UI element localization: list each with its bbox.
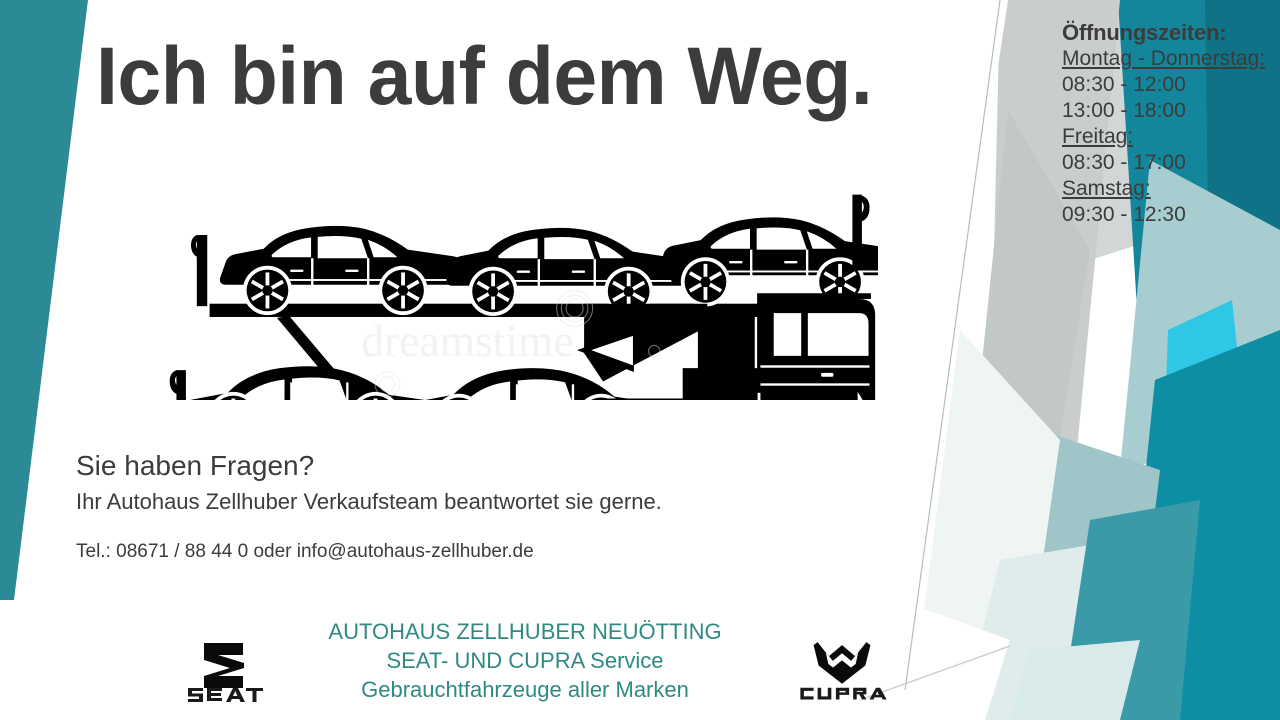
seat-wordmark	[188, 688, 263, 702]
hours-time-saturday: 09:30 - 12:30	[1062, 202, 1280, 228]
bg-teal-soft	[1060, 500, 1200, 720]
footer-line-3: Gebrauchtfahrzeuge aller Marken	[300, 675, 750, 704]
cab-roof-rail	[757, 293, 871, 299]
lower-car-2	[402, 368, 670, 400]
slide-canvas: Ich bin auf dem Weg.	[0, 0, 1280, 720]
bg-offwhite-a	[910, 330, 1060, 720]
bg-teal-mid	[1120, 330, 1280, 720]
questions-heading: Sie haben Fragen?	[76, 450, 314, 482]
opening-hours-block: Öffnungszeiten: Montag - Donnerstag: 08:…	[1062, 20, 1280, 228]
footer-line-2: SEAT- UND CUPRA Service	[300, 646, 750, 675]
left-teal-wedge	[0, 0, 88, 600]
questions-subtext: Ihr Autohaus Zellhuber Verkaufsteam bean…	[76, 489, 662, 515]
hours-time-friday: 08:30 - 17:00	[1062, 150, 1280, 176]
opening-hours-title: Öffnungszeiten:	[1062, 20, 1280, 46]
page-title: Ich bin auf dem Weg.	[96, 36, 872, 118]
upper-deck-left-post	[197, 235, 207, 306]
bg-cyan-bright	[1160, 300, 1250, 560]
upper-car-2	[447, 228, 688, 316]
watermark-text: dreamstime	[361, 315, 573, 366]
upper-right-mirror-post	[852, 195, 861, 271]
upper-car-1	[220, 226, 464, 315]
dealership-footer: AUTOHAUS ZELLHUBER NEUÖTTING SEAT- UND C…	[300, 617, 750, 704]
bg-pale-teal-b	[1000, 430, 1160, 720]
hours-day-mon-thu: Montag - Donnerstag:	[1062, 46, 1280, 72]
hours-time-mon-thu-afternoon: 13:00 - 18:00	[1062, 98, 1280, 124]
bg-hairline-a	[905, 0, 1000, 690]
hours-time-mon-thu-morning: 08:30 - 12:00	[1062, 72, 1280, 98]
cupra-triangle-mark	[814, 642, 871, 684]
seat-logo	[172, 640, 274, 702]
cupra-wordmark	[800, 688, 886, 700]
car-transporter-illustration: dreamstime	[148, 160, 878, 400]
bg-pale-corner	[1010, 640, 1140, 720]
seat-s-mark	[204, 643, 244, 688]
hours-day-friday: Freitag:	[1062, 124, 1280, 150]
upper-car-3	[659, 195, 878, 307]
contact-line: Tel.: 08671 / 88 44 0 oder info@autohaus…	[76, 541, 534, 563]
footer-line-1: AUTOHAUS ZELLHUBER NEUÖTTING	[300, 617, 750, 646]
lower-car-1	[170, 366, 445, 400]
bg-offwhite-b	[960, 540, 1120, 720]
cupra-logo	[790, 636, 894, 702]
hours-day-saturday: Samstag:	[1062, 176, 1280, 202]
